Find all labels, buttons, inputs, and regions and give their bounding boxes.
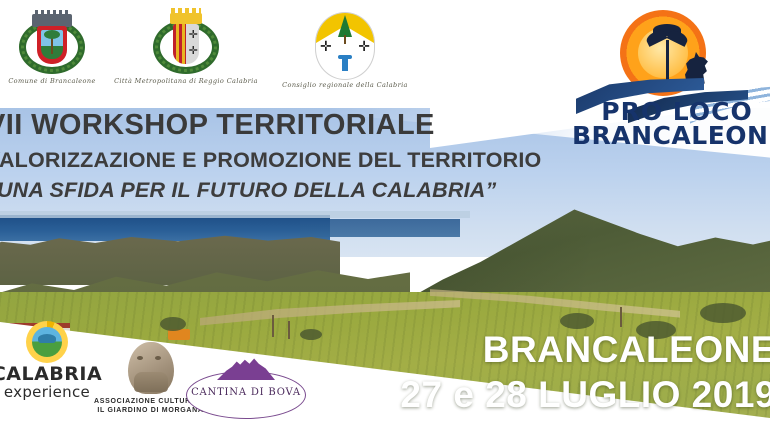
workshop-tagline: “UNA SFIDA PER IL FUTURO DELLA CALABRIA”: [0, 175, 541, 205]
bush: [700, 303, 746, 323]
event-place: BRANCALEONE: [400, 328, 770, 372]
palm-tree-icon: [650, 22, 686, 84]
bush: [560, 313, 594, 329]
sponsor-name-line1: CANTINA DI BOVA: [187, 387, 305, 398]
calabria-experience-emblem-icon: [26, 321, 68, 363]
shield-stripes: [173, 24, 186, 64]
crest-consiglio-regionale: ✛ ✛ Consiglio regionale della Calabria: [250, 12, 440, 89]
cantina-oval-frame: CANTINA DI BOVA: [186, 371, 306, 419]
shield-icon: [37, 26, 67, 64]
column-icon: [338, 55, 352, 73]
classical-bust-icon: [128, 342, 174, 394]
event-date: 27 e 28 LUGLIO 2019: [400, 372, 770, 418]
workshop-title: VII WORKSHOP TERRITORIALE: [0, 108, 541, 142]
laurel-wreath-icon: ✛ ✛: [149, 12, 223, 76]
event-details: BRANCALEONE 27 e 28 LUGLIO 2019: [400, 328, 770, 418]
title-block: VII WORKSHOP TERRITORIALE VALORIZZAZIONE…: [0, 108, 541, 205]
sea: [0, 215, 330, 241]
crown-icon: [170, 13, 202, 24]
calabria-emblem-icon: ✛ ✛: [315, 12, 375, 80]
pine-tree-icon: [338, 15, 352, 37]
sponsor-cantina-di-bova: CANTINA DI BOVA: [182, 371, 310, 419]
bare-tree: [620, 307, 622, 327]
sponsor-logos: CALABRIA experience ASSOCIAZIONE CULTURA…: [0, 314, 430, 439]
hilltop-village-icon: [217, 358, 275, 380]
crest-caption: Consiglio regionale della Calabria: [250, 81, 440, 89]
event-poster: Comune di Brancaleone ✛ ✛ Città Metropol…: [0, 0, 770, 439]
sea-far: [300, 219, 460, 237]
workshop-subtitle: VALORIZZAZIONE E PROMOZIONE DEL TERRITOR…: [0, 145, 541, 175]
laurel-wreath-icon: [15, 12, 89, 76]
cross-icon: ✛: [189, 30, 198, 41]
proloco-line2: BRANCALEONE: [572, 124, 770, 148]
proloco-brancaleone-logo: PRO LOCO BRANCALEONE: [572, 4, 770, 152]
proloco-wordmark: PRO LOCO BRANCALEONE: [572, 100, 770, 148]
cross-icon: ✛: [189, 46, 198, 57]
horizon-haze: [0, 211, 470, 218]
cross-icon: ✛: [358, 39, 370, 53]
crest-citta-metropolitana: ✛ ✛ Città Metropolitana di Reggio Calabr…: [96, 12, 276, 85]
cross-icon: ✛: [320, 39, 332, 53]
crest-caption: Città Metropolitana di Reggio Calabria: [96, 77, 276, 85]
shield-icon: ✛ ✛: [173, 24, 199, 64]
institutional-crests: Comune di Brancaleone ✛ ✛ Città Metropol…: [0, 0, 470, 107]
